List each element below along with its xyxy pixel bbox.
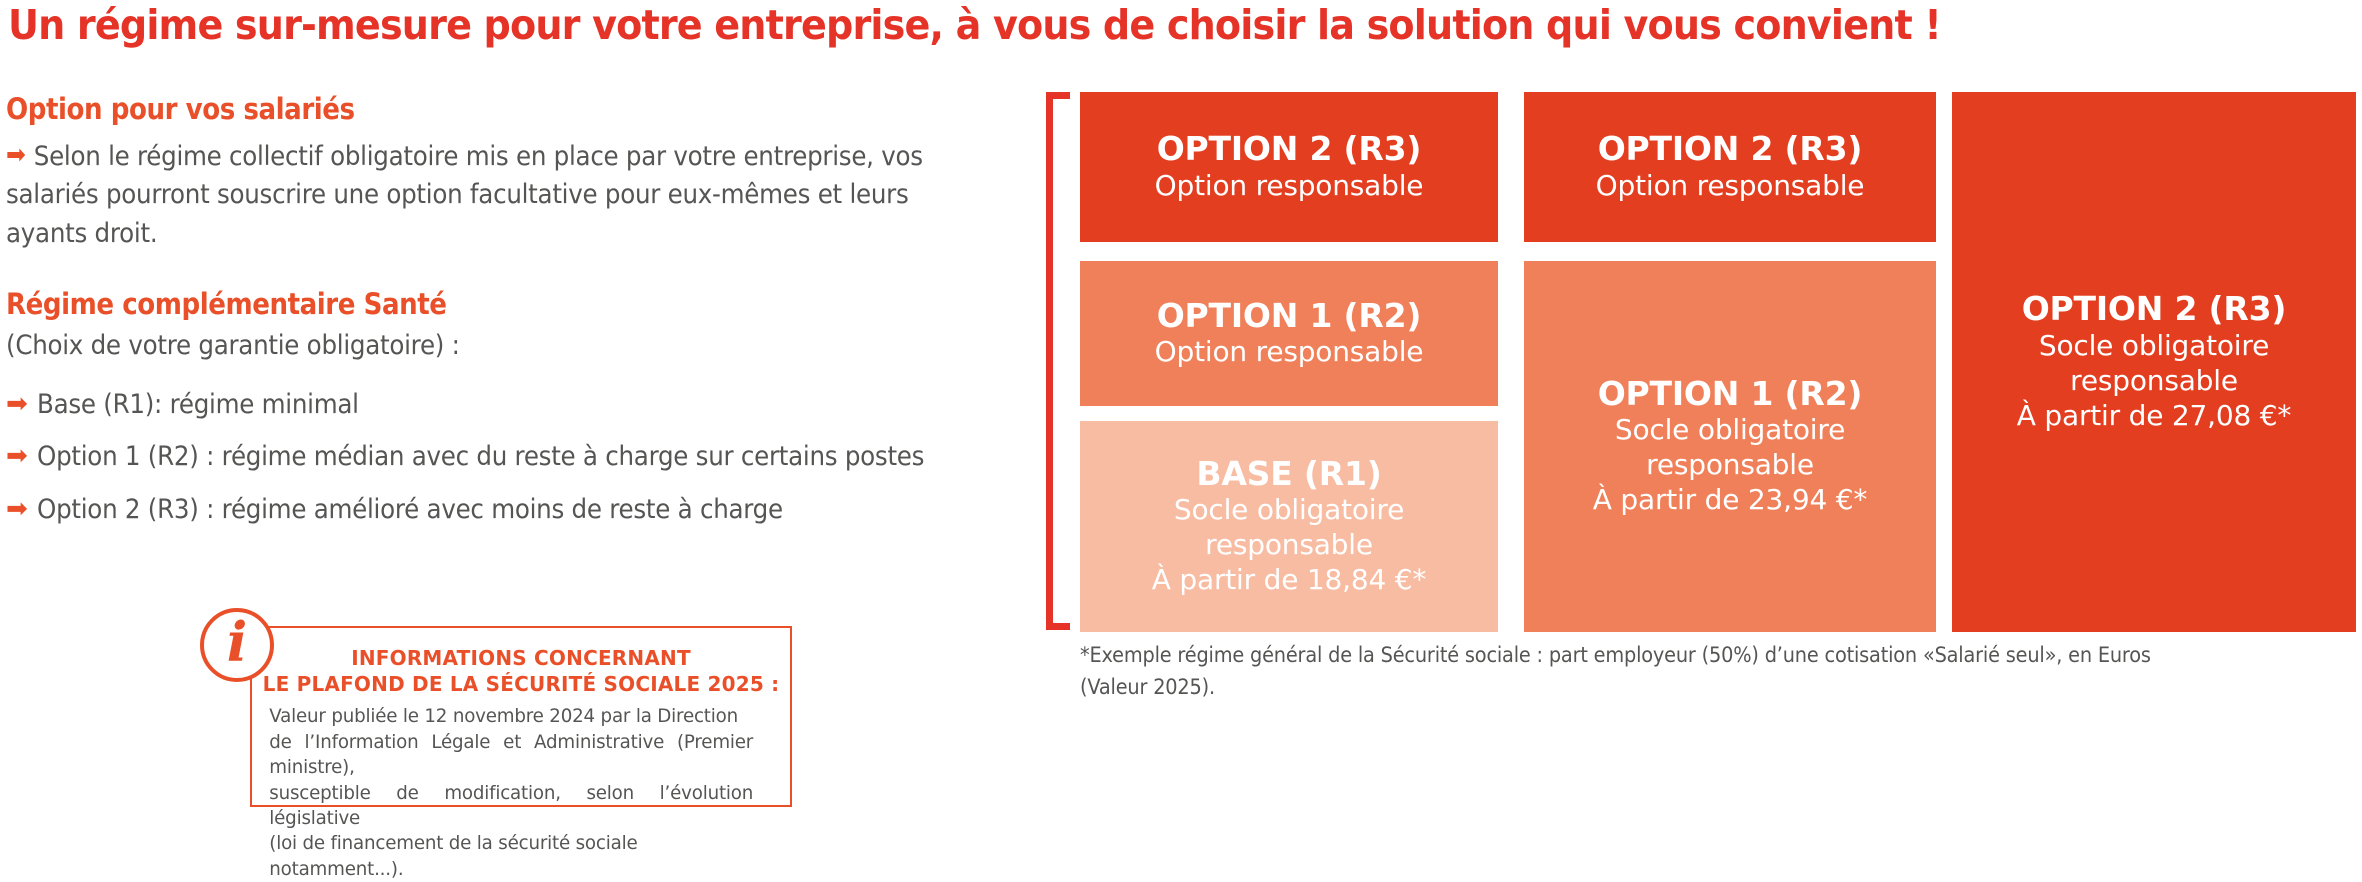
info-callout-frame: INFORMATIONS CONCERNANT LE PLAFOND DE LA…: [250, 626, 792, 807]
diagram-box-subtitle: Option responsable: [1596, 168, 1865, 203]
section-heading-option-salaries: Option pour vos salariés: [6, 92, 933, 126]
arrow-right-icon: ➡: [6, 495, 28, 521]
section-heading-regime-complementaire: Régime complémentaire Santé: [6, 287, 933, 321]
list-item: ➡ Option 2 (R3) : régime amélioré avec m…: [6, 492, 1036, 527]
diagram-box-subtitle: responsable: [2070, 363, 2238, 398]
diagram-box-option1-r2[interactable]: OPTION 1 (R2) Socle obligatoire responsa…: [1524, 261, 1936, 632]
diagram-column-3: OPTION 2 (R3) Socle obligatoire responsa…: [1952, 92, 2356, 631]
list-item-label: Base (R1): régime minimal: [37, 387, 359, 422]
diagram-column-2: OPTION 2 (R3) Option responsable OPTION …: [1524, 92, 1936, 631]
diagram-box-option1-r2[interactable]: OPTION 1 (R2) Option responsable: [1080, 261, 1498, 406]
info-icon-glyph: i: [227, 615, 248, 669]
list-item: ➡ Base (R1): régime minimal: [6, 387, 1036, 422]
info-callout: INFORMATIONS CONCERNANT LE PLAFOND DE LA…: [200, 608, 800, 813]
list-item-label: Option 1 (R2) : régime médian avec du re…: [37, 439, 924, 474]
diagram-box-subtitle: Option responsable: [1155, 168, 1424, 203]
diagram-box-option2-r3[interactable]: OPTION 2 (R3) Option responsable: [1524, 92, 1936, 242]
info-callout-body-line2: de l’Information Légale et Administrativ…: [269, 730, 753, 781]
bracket-decoration: [1046, 92, 1070, 630]
diagram-box-title: OPTION 2 (R3): [2022, 291, 2287, 328]
diagram-box-subtitle: Socle obligatoire: [2039, 328, 2269, 363]
footnote-line-2: (Valeur 2025).: [1080, 672, 2259, 704]
left-content-column: Option pour vos salariés ➡Selon le régim…: [6, 92, 1036, 544]
diagram-box-price: À partir de 27,08 €*: [2017, 398, 2291, 433]
diagram-box-title: OPTION 1 (R2): [1157, 298, 1422, 335]
diagram-box-price: À partir de 18,84 €*: [1152, 562, 1426, 597]
diagram-box-subtitle: Socle obligatoire: [1174, 492, 1404, 527]
diagram-box-price: À partir de 23,94 €*: [1593, 482, 1867, 517]
info-i-icon: i: [200, 608, 274, 682]
diagram-box-title: OPTION 2 (R3): [1598, 131, 1863, 168]
info-callout-heading-line1: INFORMATIONS CONCERNANT: [252, 628, 790, 672]
arrow-right-icon: ➡: [6, 390, 28, 416]
diagram-box-option2-r3[interactable]: OPTION 2 (R3) Option responsable: [1080, 92, 1498, 242]
info-callout-body: Valeur publiée le 12 novembre 2024 par l…: [252, 697, 768, 882]
list-item: ➡ Option 1 (R2) : régime médian avec du …: [6, 439, 1036, 474]
section-subheading-garantie: (Choix de votre garantie obligatoire) :: [6, 327, 943, 365]
arrow-right-icon: ➡: [6, 142, 26, 168]
info-callout-body-line4: (loi de financement de la sécurité socia…: [269, 831, 753, 882]
section-paragraph-option-salaries: ➡Selon le régime collectif obligatoire m…: [6, 138, 943, 253]
diagram-box-subtitle: responsable: [1646, 447, 1814, 482]
info-callout-body-line1: Valeur publiée le 12 novembre 2024 par l…: [269, 704, 753, 729]
diagram-box-subtitle: Socle obligatoire: [1615, 412, 1845, 447]
diagram-box-title: OPTION 1 (R2): [1598, 376, 1863, 413]
arrow-right-icon: ➡: [6, 442, 28, 468]
info-callout-body-line3: susceptible de modification, selon l’évo…: [269, 781, 753, 832]
diagram-box-title: OPTION 2 (R3): [1157, 131, 1422, 168]
diagram-box-option2-r3[interactable]: OPTION 2 (R3) Socle obligatoire responsa…: [1952, 92, 2356, 632]
options-diagram: OPTION 2 (R3) Option responsable OPTION …: [1046, 88, 2356, 633]
info-callout-heading-line2: LE PLAFOND DE LA SÉCURITÉ SOCIALE 2025 :: [252, 672, 790, 698]
diagram-column-1: OPTION 2 (R3) Option responsable OPTION …: [1080, 92, 1498, 631]
diagram-box-base-r1[interactable]: BASE (R1) Socle obligatoire responsable …: [1080, 421, 1498, 632]
diagram-box-subtitle: Option responsable: [1155, 334, 1424, 369]
paragraph-text: Selon le régime collectif obligatoire mi…: [6, 141, 923, 249]
footnote-line-1: *Exemple régime général de la Sécurité s…: [1080, 640, 2259, 672]
diagram-box-subtitle: responsable: [1205, 527, 1373, 562]
diagram-footnote: *Exemple régime général de la Sécurité s…: [1080, 640, 2259, 703]
page-title: Un régime sur-mesure pour votre entrepri…: [8, 4, 2128, 47]
diagram-box-title: BASE (R1): [1196, 456, 1381, 493]
list-item-label: Option 2 (R3) : régime amélioré avec moi…: [37, 492, 783, 527]
